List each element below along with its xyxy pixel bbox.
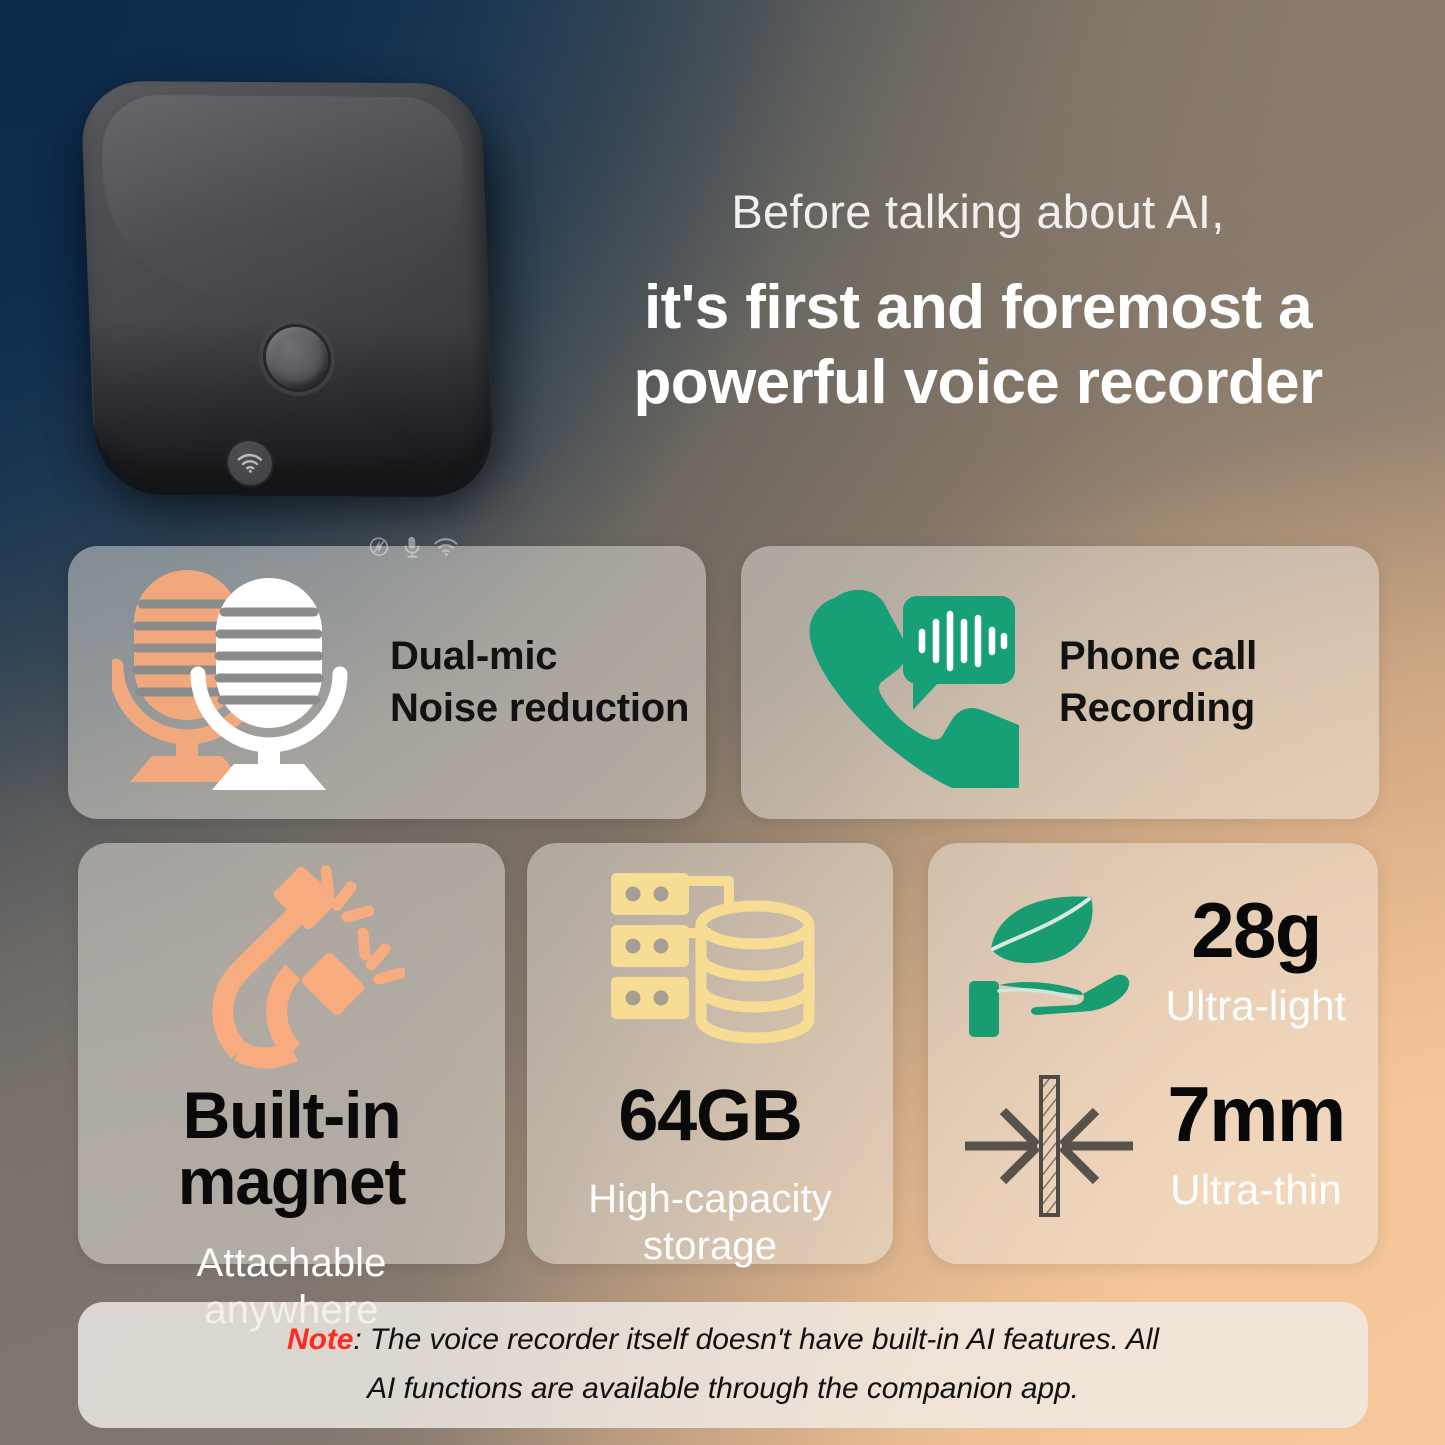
database-cylinder [701, 906, 809, 1038]
waveform-bubble [903, 596, 1015, 710]
dual-mic-label-line-2: Noise reduction [390, 683, 689, 734]
thickness-measure-icon [954, 1071, 1144, 1221]
magnet-subtitle-line-1: Attachable [196, 1240, 386, 1287]
note-line-2: AI functions are available through the c… [367, 1365, 1079, 1414]
thickness-value: 7mm [1167, 1076, 1344, 1152]
phone-call-label-line-2: Recording [1059, 683, 1257, 734]
hand-holding-leaf-icon [954, 887, 1144, 1037]
spec-thickness-text: 7mm Ultra-thin [1160, 1076, 1352, 1215]
phone-call-label: Phone call Recording [1059, 631, 1257, 733]
horseshoe-magnet-icon [179, 861, 405, 1078]
storage-value: 64GB [618, 1080, 801, 1152]
headline-title: it's first and foremost a powerful voice… [548, 270, 1408, 421]
server-rack [611, 873, 689, 1019]
headline-title-line-1: it's first and foremost a [548, 270, 1408, 346]
feature-card-dual-mic: Dual-mic Noise reduction [68, 546, 706, 819]
dual-microphone-icon [112, 564, 364, 801]
dual-mic-label: Dual-mic Noise reduction [390, 631, 689, 733]
thickness-caption: Ultra-thin [1170, 1165, 1341, 1215]
weight-value: 28g [1191, 892, 1321, 968]
storage-subtitle: High-capacity storage [588, 1176, 832, 1270]
note-card: Note: The voice recorder itself doesn't … [78, 1302, 1368, 1428]
headline-block: Before talking about AI, it's first and … [548, 186, 1408, 421]
phone-call-recording-icon [803, 572, 1019, 793]
feature-card-specs: 28g Ultra-light [928, 843, 1378, 1264]
weight-caption: Ultra-light [1166, 981, 1347, 1031]
dual-mic-label-line-1: Dual-mic [390, 631, 689, 682]
note-label: Note [287, 1323, 353, 1356]
spec-thickness: 7mm Ultra-thin [954, 1071, 1352, 1221]
wifi-icon [237, 453, 264, 473]
storage-subtitle-line-2: storage [588, 1223, 832, 1270]
spec-weight-text: 28g Ultra-light [1160, 892, 1352, 1031]
headline-kicker: Before talking about AI, [548, 186, 1408, 238]
feature-card-storage: 64GB High-capacity storage [527, 843, 893, 1264]
note-line-1-rest: : The voice recorder itself doesn't have… [353, 1323, 1159, 1356]
headline-title-line-2: powerful voice recorder [548, 345, 1408, 421]
product-device-image [88, 82, 518, 522]
magnet-title: Built-in magnet [78, 1082, 505, 1214]
phone-call-label-line-1: Phone call [1059, 631, 1257, 682]
server-database-icon [605, 867, 815, 1068]
note-line-1: Note: The voice recorder itself doesn't … [287, 1316, 1159, 1365]
spec-weight: 28g Ultra-light [954, 887, 1352, 1037]
storage-subtitle-line-1: High-capacity [588, 1176, 832, 1223]
device-bottom-edge [82, 103, 493, 497]
feature-card-phone-call: Phone call Recording [741, 546, 1379, 819]
feature-card-magnet: Built-in magnet Attachable anywhere [78, 843, 505, 1264]
